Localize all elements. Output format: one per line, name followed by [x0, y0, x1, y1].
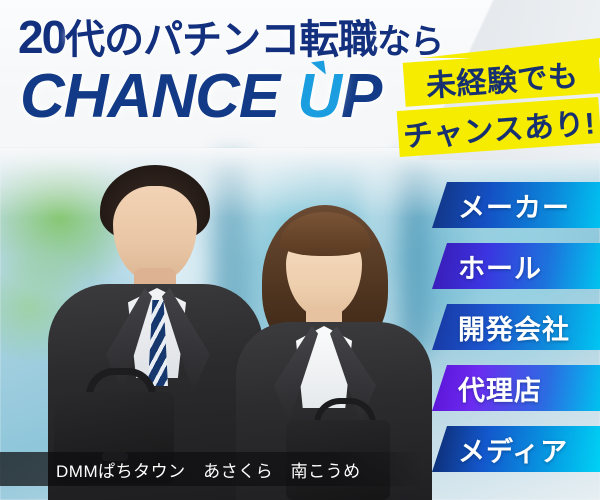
chance-up-logo: CHANCEUP [20, 66, 381, 128]
category-item-development-company[interactable]: 開発会社 [432, 304, 600, 350]
headline-number: 20 [18, 11, 65, 63]
credit-strip: DMMぱちタウン あさくら 南こうめ [0, 452, 424, 486]
logo-letter-u: U [297, 66, 341, 128]
page-title: 20代のパチンコ転職なら [18, 14, 443, 60]
category-item-agency[interactable]: 代理店 [432, 365, 600, 411]
category-item-hall[interactable]: ホール [432, 243, 600, 289]
credit-text: DMMぱちタウン あさくら 南こうめ [56, 457, 361, 482]
category-label: 開発会社 [458, 308, 570, 347]
category-label: ホール [458, 247, 542, 286]
headline-main: 代のパチンコ転職 [65, 18, 377, 62]
logo-letter-p: P [341, 62, 381, 131]
category-item-maker[interactable]: メーカー [432, 182, 600, 228]
headline-tail: なら [377, 23, 443, 61]
category-label: メーカー [458, 186, 570, 225]
category-label: 代理店 [458, 369, 542, 408]
category-label: メディア [458, 430, 568, 469]
logo-word-chance: CHANCE [20, 62, 279, 131]
category-item-media[interactable]: メディア [432, 426, 600, 472]
advertisement-banner[interactable]: 20代のパチンコ転職なら CHANCEUP 未経験でも チャンスあり! メーカー… [0, 0, 600, 500]
